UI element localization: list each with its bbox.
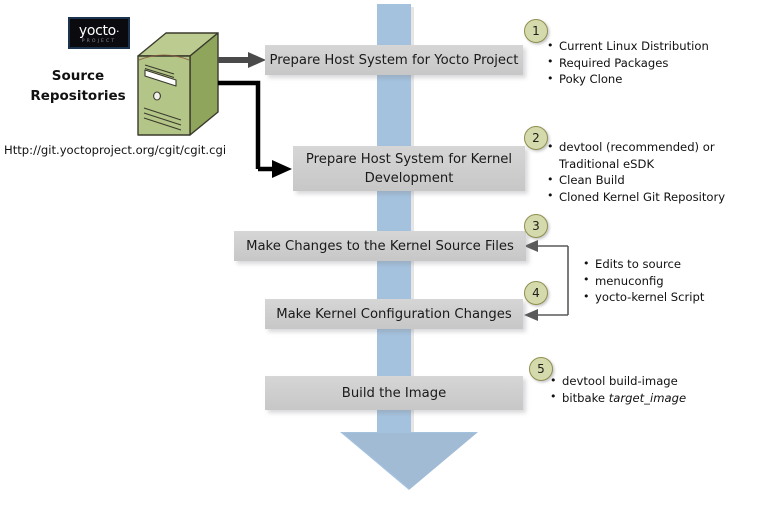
bracket-steps-3-4 [524,240,568,321]
logo-dot-icon: · [116,25,119,38]
process-box-step-2[interactable]: Prepare Host System for Kernel Developme… [293,146,525,191]
list-item-italic-value: target_image [609,391,686,405]
yocto-project-logo: yocto· PROJECT [68,17,130,49]
diagram-canvas: yocto· PROJECT Source Repositories Http:… [0,0,769,517]
step-number-1: 1 [524,19,548,43]
arrow-server-to-step1 [218,52,266,68]
step-number-2: 2 [524,126,548,150]
step-number-4: 4 [524,281,548,305]
bullet-list-step-2: devtool (recommended) or Traditional eSD… [547,139,762,205]
logo-wordmark-text: yocto [79,23,116,39]
bullet-list-step-1: Current Linux Distribution Required Pack… [547,38,762,88]
source-repositories-url: Http://git.yoctoproject.org/cgit/cgit.cg… [4,143,236,157]
list-item: bitbake target_image [550,390,750,407]
list-item: Poky Clone [547,71,762,88]
process-box-step-5[interactable]: Build the Image [265,376,523,410]
source-repositories-label: Source Repositories [18,66,138,106]
list-item: devtool build-image [550,373,750,390]
list-item: Clean Build [547,172,762,189]
server-tower-icon [134,30,222,138]
list-item: menuconfig [583,273,763,290]
process-box-step-1[interactable]: Prepare Host System for Yocto Project [265,45,523,75]
list-item: yocto-kernel Script [583,289,763,306]
list-item: Required Packages [547,55,762,72]
step-number-3: 3 [524,214,548,238]
logo-subtitle: PROJECT [70,39,128,44]
list-item: Edits to source [583,256,763,273]
process-box-step-4[interactable]: Make Kernel Configuration Changes [265,299,523,329]
bullet-list-step-5: devtool build-image bitbake target_image [550,373,750,406]
main-flow-arrow-head [340,432,478,490]
list-item: devtool (recommended) or Traditional eSD… [547,139,762,172]
logo-wordmark: yocto· [70,23,128,39]
bullet-list-steps-3-4: Edits to source menuconfig yocto-kernel … [583,256,763,306]
list-item: Current Linux Distribution [547,38,762,55]
arrow-server-to-step2 [218,83,292,178]
list-item-prefix: bitbake [562,391,609,405]
list-item: Cloned Kernel Git Repository [547,189,762,206]
process-box-step-3[interactable]: Make Changes to the Kernel Source Files [234,231,526,261]
